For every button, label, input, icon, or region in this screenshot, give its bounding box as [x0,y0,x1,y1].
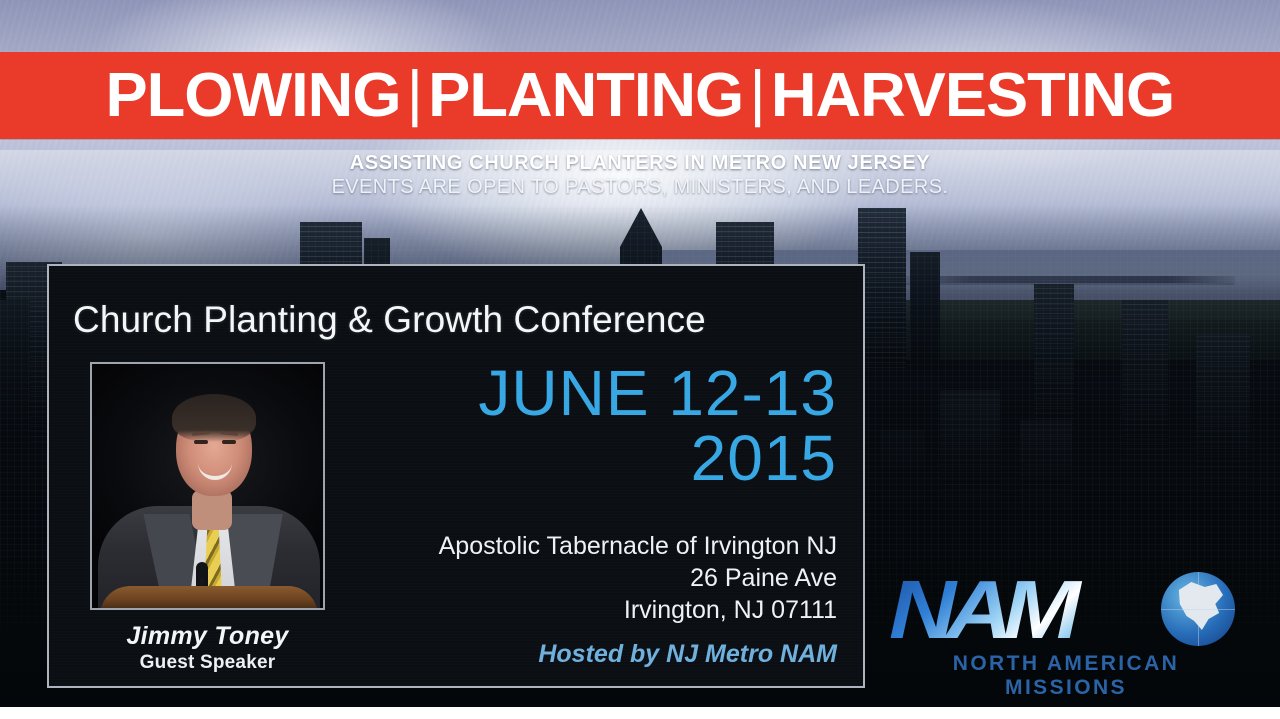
venue-block: Apostolic Tabernacle of Irvington NJ 26 … [439,530,837,626]
conference-info-panel: Church Planting & Growth Conference Jimm… [47,264,865,688]
conference-title: Church Planting & Growth Conference [73,299,849,341]
nam-logo-mark: NAM [889,566,1241,654]
photo-eye-right [222,440,236,444]
photo-eye-left [194,440,208,444]
headline-banner: PLOWING|PLANTING|HARVESTING [0,52,1280,139]
headline-word-1: PLOWING [106,61,401,130]
nam-tagline: NORTH AMERICAN MISSIONS [891,652,1241,700]
hosted-by-text: Hosted by NJ Metro NAM [538,640,837,669]
photo-podium [100,586,318,610]
venue-name: Apostolic Tabernacle of Irvington NJ [439,530,837,562]
headline-word-2: PLANTING [428,61,743,130]
photo-hair [172,394,256,442]
headline-separator-2: | [743,63,771,125]
photo-neck [192,490,232,530]
event-flyer: PLOWING|PLANTING|HARVESTING ASSISTING CH… [0,0,1280,719]
continents-shape [1175,582,1223,632]
headline-separator-1: | [401,63,429,125]
event-date: JUNE 12-13 [478,361,837,426]
speaker-role: Guest Speaker [90,652,325,674]
venue-street: 26 Paine Ave [439,562,837,594]
speaker-name: Jimmy Toney [90,622,325,651]
globe-icon [1161,572,1235,646]
headline-text: PLOWING|PLANTING|HARVESTING [106,65,1175,127]
bottom-white-strip [0,707,1280,719]
subheadline-secondary: EVENTS ARE OPEN TO PASTORS, MINISTERS, A… [0,176,1280,199]
speaker-photo [90,362,325,610]
nam-logo: NAM NORTH AMERICAN MISSIONS [889,566,1249,686]
headline-word-3: HARVESTING [771,61,1174,130]
subheadline-primary: ASSISTING CHURCH PLANTERS IN METRO NEW J… [0,152,1280,175]
event-year: 2015 [691,426,837,491]
venue-city-state-zip: Irvington, NJ 07111 [439,594,837,626]
